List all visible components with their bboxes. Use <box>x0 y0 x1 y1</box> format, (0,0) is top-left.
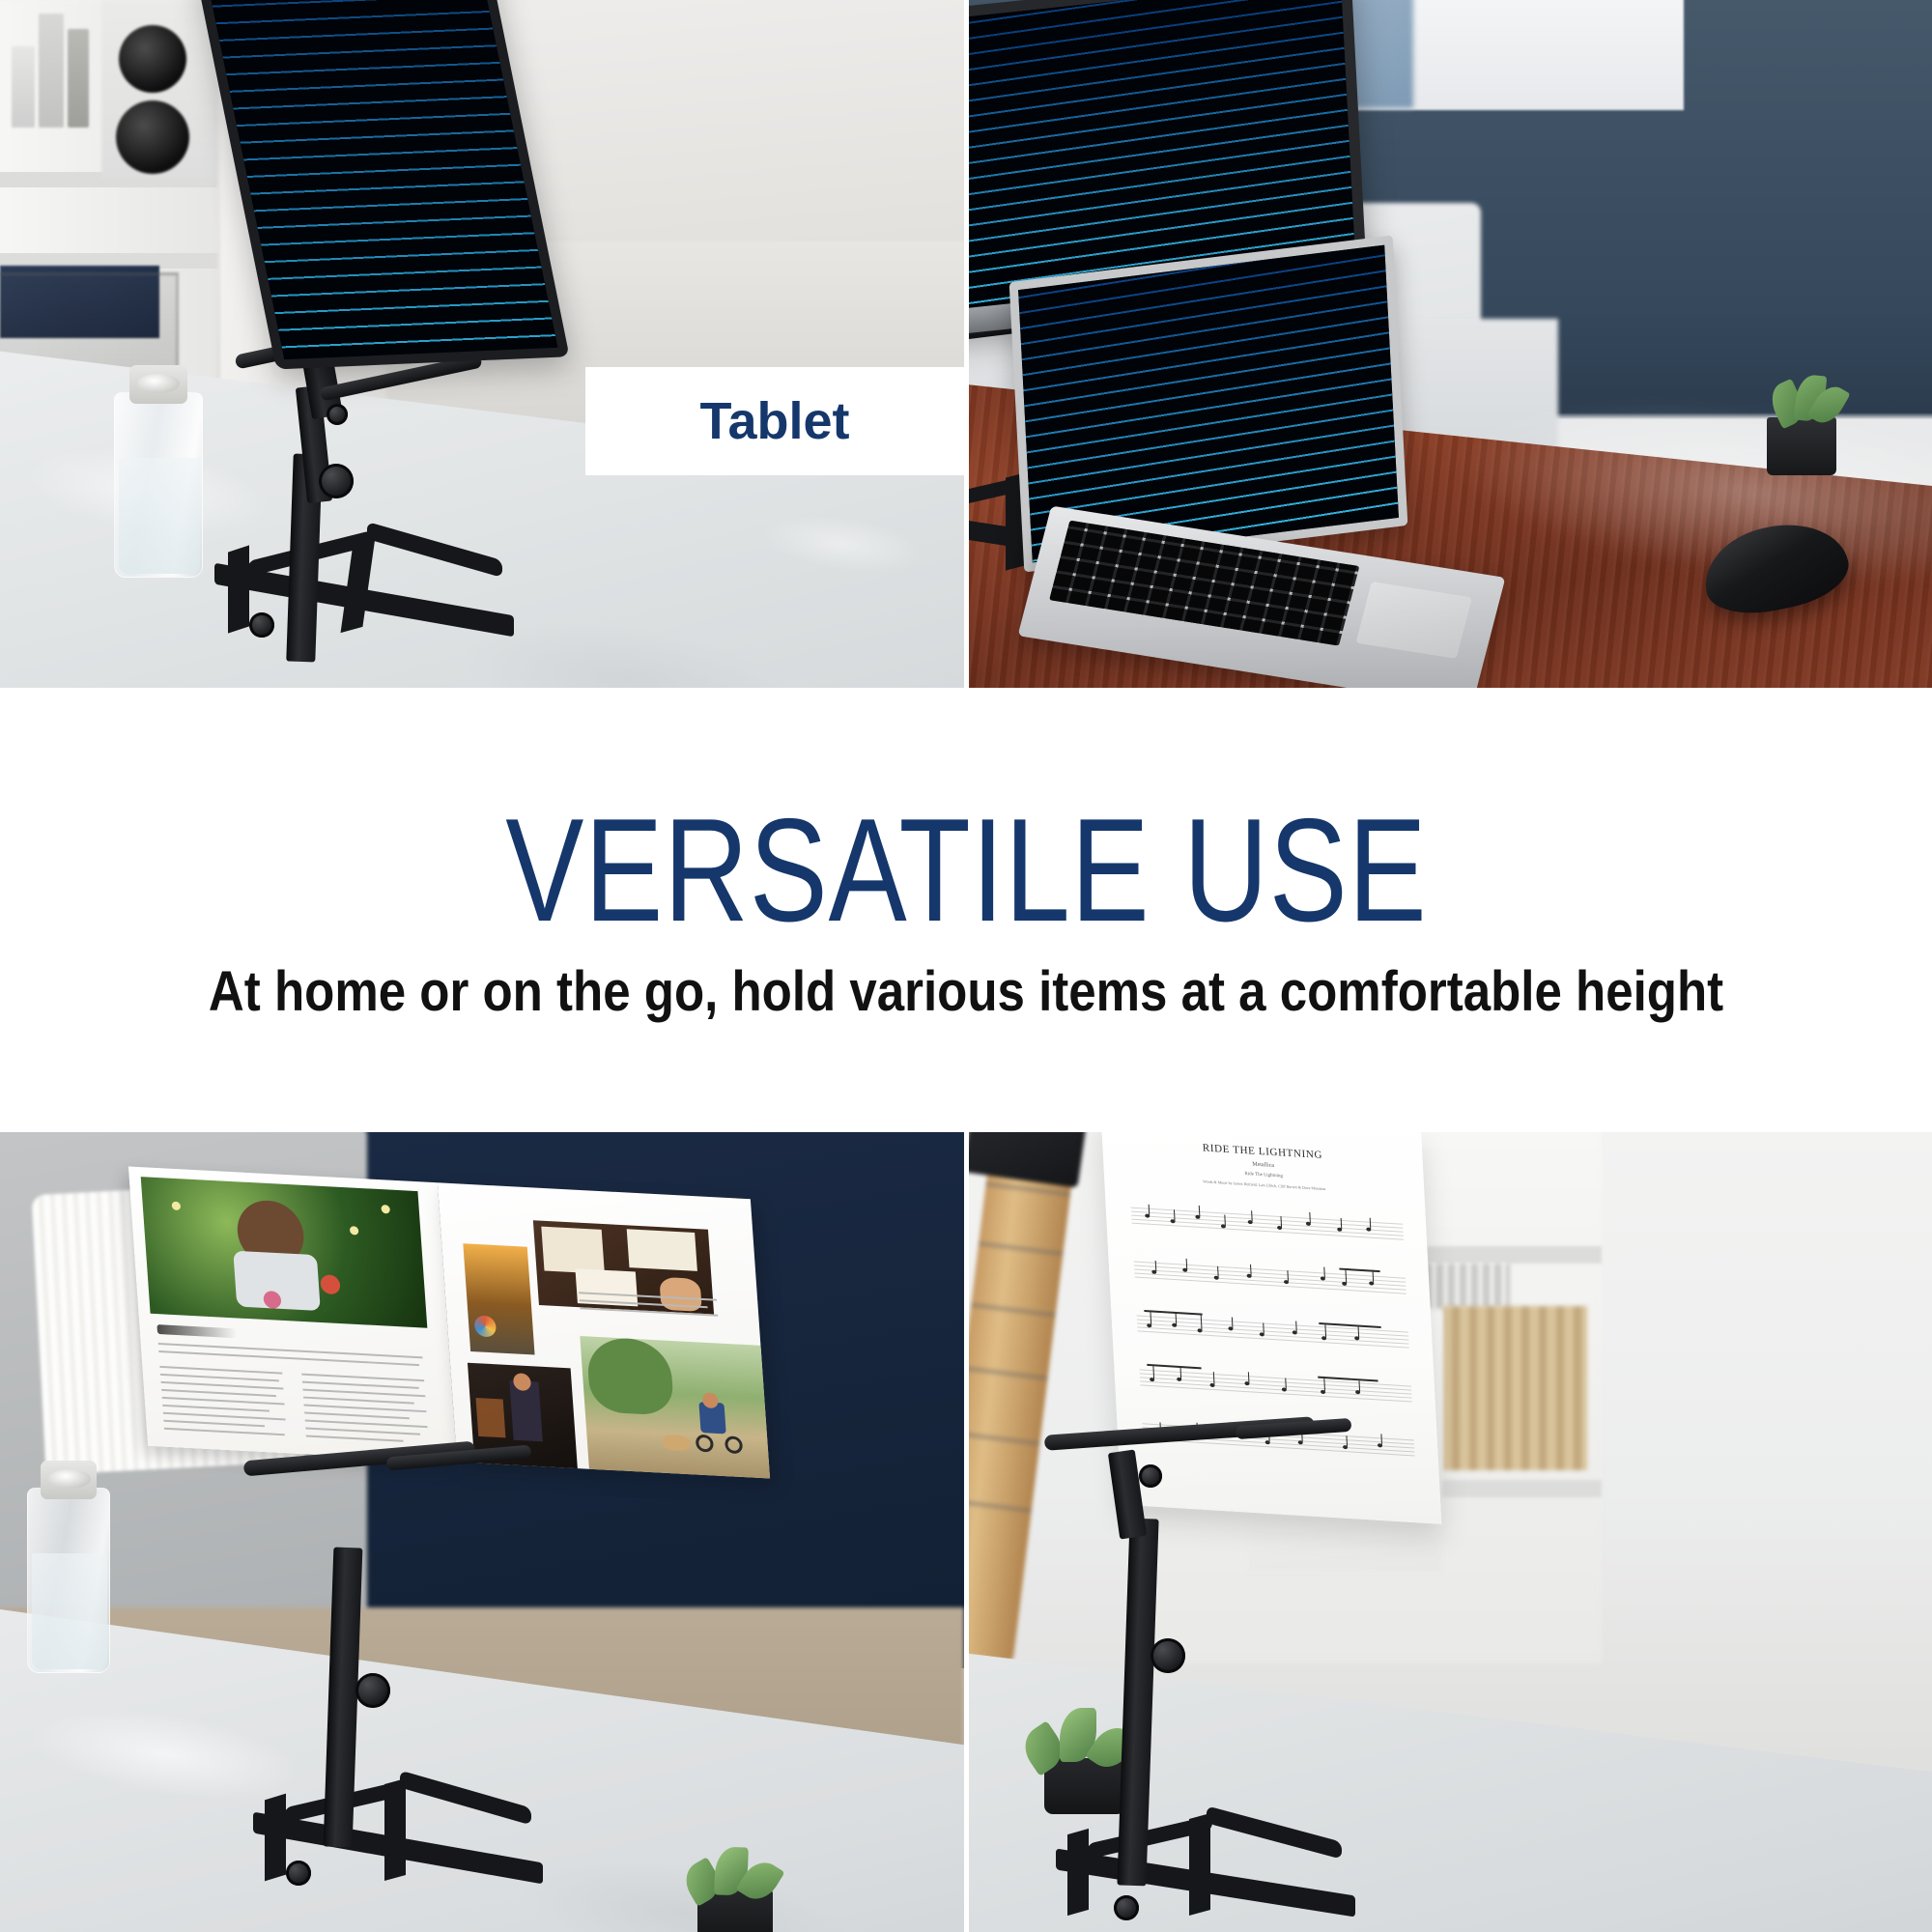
water-bottle <box>27 1461 110 1663</box>
bottle-cap <box>129 365 187 404</box>
base-adjustment-knob[interactable] <box>286 1861 311 1886</box>
bottle-body <box>27 1488 110 1673</box>
plant-pot <box>1767 417 1836 475</box>
banner-headline: VERSATILE USE <box>505 796 1427 946</box>
stand-base-left-arm <box>265 1794 286 1882</box>
books-row <box>1442 1306 1587 1470</box>
bottle-water <box>32 1553 107 1669</box>
height-adjustment-knob[interactable] <box>319 464 354 498</box>
bottle-body <box>114 392 203 578</box>
base-adjustment-knob[interactable] <box>1114 1895 1139 1920</box>
book <box>12 46 35 128</box>
book <box>68 29 89 128</box>
magazine-photo-autumn-tree <box>463 1243 534 1354</box>
stand-base-left-arm <box>228 545 249 633</box>
versatile-use-banner: VERSATILE USE At home or on the go, hold… <box>0 688 1932 1132</box>
panel-sheet-music: RIDE THE LIGHTNING Metallica Ride The Li… <box>969 1132 1932 1932</box>
open-magazine <box>128 1166 770 1478</box>
bottle-cap <box>41 1461 97 1499</box>
magazine-photo-child-flowers <box>141 1177 428 1328</box>
stand-base-left-arm <box>1067 1829 1089 1916</box>
succulent-plant <box>676 1835 792 1932</box>
marketing-infographic: Tablet <box>0 0 1932 1932</box>
tilt-knob[interactable] <box>1139 1464 1162 1488</box>
speaker-woofer-icon <box>116 100 189 174</box>
caption-tablet: Tablet <box>585 367 964 475</box>
plant-pot <box>1044 1758 1125 1814</box>
book <box>39 14 64 128</box>
laptop-trackpad[interactable] <box>1356 582 1472 659</box>
speaker-tweeter-icon <box>119 25 186 93</box>
magazine-photo-drawing <box>533 1220 714 1314</box>
water-bottle <box>114 365 203 578</box>
magazine-headline <box>156 1324 237 1338</box>
caption-tablet-label: Tablet <box>699 392 849 450</box>
panel-portable-monitor: Portable Monitor <box>969 0 1932 688</box>
bottle-water <box>119 458 200 574</box>
panel-tablet: Tablet <box>0 0 964 688</box>
panel-magazine: Magazine <box>0 1132 964 1932</box>
height-adjustment-knob[interactable] <box>355 1673 390 1708</box>
height-adjustment-knob[interactable] <box>1151 1638 1185 1673</box>
magazine-left-page <box>128 1166 457 1462</box>
base-adjustment-knob[interactable] <box>249 612 274 638</box>
magazine-photo-child-bike <box>580 1336 770 1478</box>
magazine-right-page <box>438 1182 770 1478</box>
tilt-knob[interactable] <box>327 404 348 425</box>
banner-subheadline: At home or on the go, hold various items… <box>209 959 1723 1024</box>
